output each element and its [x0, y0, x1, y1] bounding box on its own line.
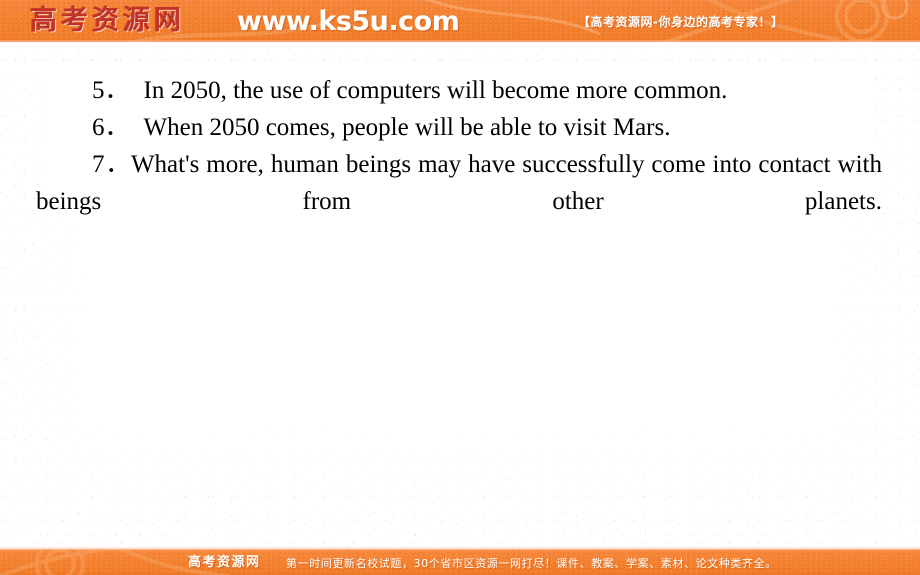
item-number: 5． — [92, 77, 130, 104]
header-site-url: www.ks5u.com — [237, 6, 459, 38]
item-text: When 2050 comes, people will be able to … — [144, 114, 671, 141]
sentence-list: 5．In 2050, the use of computers will bec… — [36, 72, 882, 257]
item-number: 6． — [92, 114, 130, 141]
header-banner: 高考资源网 www.ks5u.com 【高考资源网-你身边的高考专家！】 — [0, 0, 920, 42]
footer-tagline: 第一时间更新名校试题，30个省市区资源一网打尽！课件、教案、学案、素材、论文种类… — [286, 556, 777, 571]
item-number: 7． — [92, 151, 131, 178]
list-item: 7．What's more, human beings may have suc… — [36, 146, 882, 257]
header-logo-text: 高考资源网 — [30, 4, 185, 38]
item-text: What's more, human beings may have succe… — [36, 151, 882, 215]
footer-logo-text: 高考资源网 — [188, 554, 261, 571]
header-tagline: 【高考资源网-你身边的高考专家！】 — [578, 14, 783, 30]
header-bottom-edge — [0, 40, 920, 43]
slide-root: 高考资源网 www.ks5u.com 【高考资源网-你身边的高考专家！】 5．I… — [0, 0, 920, 575]
list-item: 5．In 2050, the use of computers will bec… — [36, 72, 882, 109]
list-item: 6．When 2050 comes, people will be able t… — [36, 109, 882, 146]
item-text: In 2050, the use of computers will becom… — [144, 77, 728, 104]
